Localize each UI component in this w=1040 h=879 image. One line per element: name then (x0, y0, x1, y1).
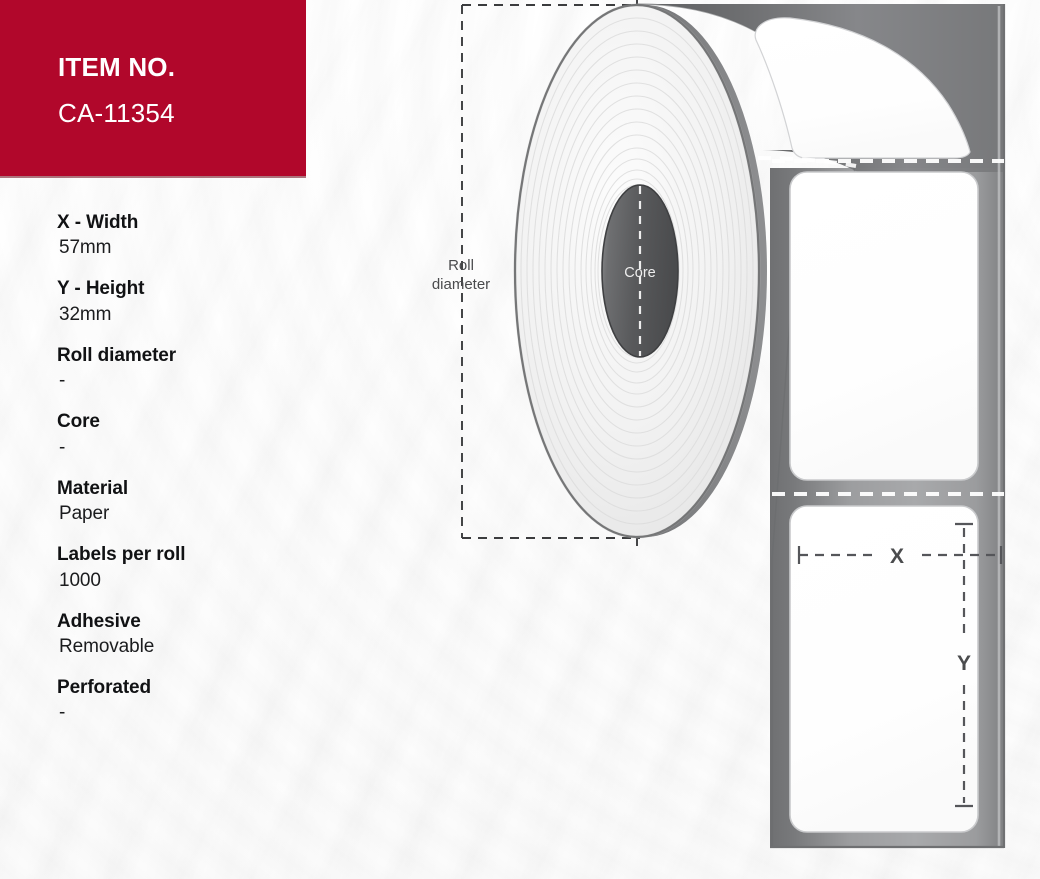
spec-label-perforated: Perforated (57, 675, 307, 700)
spec-label-roll-diameter: Roll diameter (57, 343, 307, 368)
spec-row-adhesive: Adhesive Removable (57, 609, 307, 661)
spec-value-labels-per-roll: 1000 (57, 568, 307, 595)
spec-sheet-page: Core Roll diameter X Y ITEM NO. CA-11354 (0, 0, 1040, 879)
item-number-banner: ITEM NO. CA-11354 (0, 0, 306, 176)
spec-row-labels-per-roll: Labels per roll 1000 (57, 542, 307, 594)
specification-list: X - Width 57mm Y - Height 32mm Roll diam… (57, 210, 307, 741)
spec-value-core: - (57, 435, 307, 462)
item-number-title: ITEM NO. (58, 52, 175, 83)
spec-row-material: Material Paper (57, 476, 307, 528)
spec-label-width: X - Width (57, 210, 307, 235)
spec-value-height: 32mm (57, 302, 307, 329)
spec-label-height: Y - Height (57, 276, 307, 301)
label-face-middle (790, 172, 978, 480)
spec-label-core: Core (57, 409, 307, 434)
spec-label-labels-per-roll: Labels per roll (57, 542, 307, 567)
height-dimension-label: Y (957, 652, 971, 675)
spec-value-roll-diameter: - (57, 368, 307, 395)
spec-value-width: 57mm (57, 235, 307, 262)
spec-label-adhesive: Adhesive (57, 609, 307, 634)
spec-label-material: Material (57, 476, 307, 501)
width-dimension-label: X (890, 545, 904, 568)
core-label: Core (624, 265, 655, 281)
spec-value-material: Paper (57, 501, 307, 528)
spec-value-perforated: - (57, 700, 307, 727)
spec-value-adhesive: Removable (57, 634, 307, 661)
spec-row-core: Core - (57, 409, 307, 461)
item-number-value: CA-11354 (58, 98, 175, 129)
spec-row-roll-diameter: Roll diameter - (57, 343, 307, 395)
spec-row-height: Y - Height 32mm (57, 276, 307, 328)
spec-row-perforated: Perforated - (57, 675, 307, 727)
spec-row-width: X - Width 57mm (57, 210, 307, 262)
